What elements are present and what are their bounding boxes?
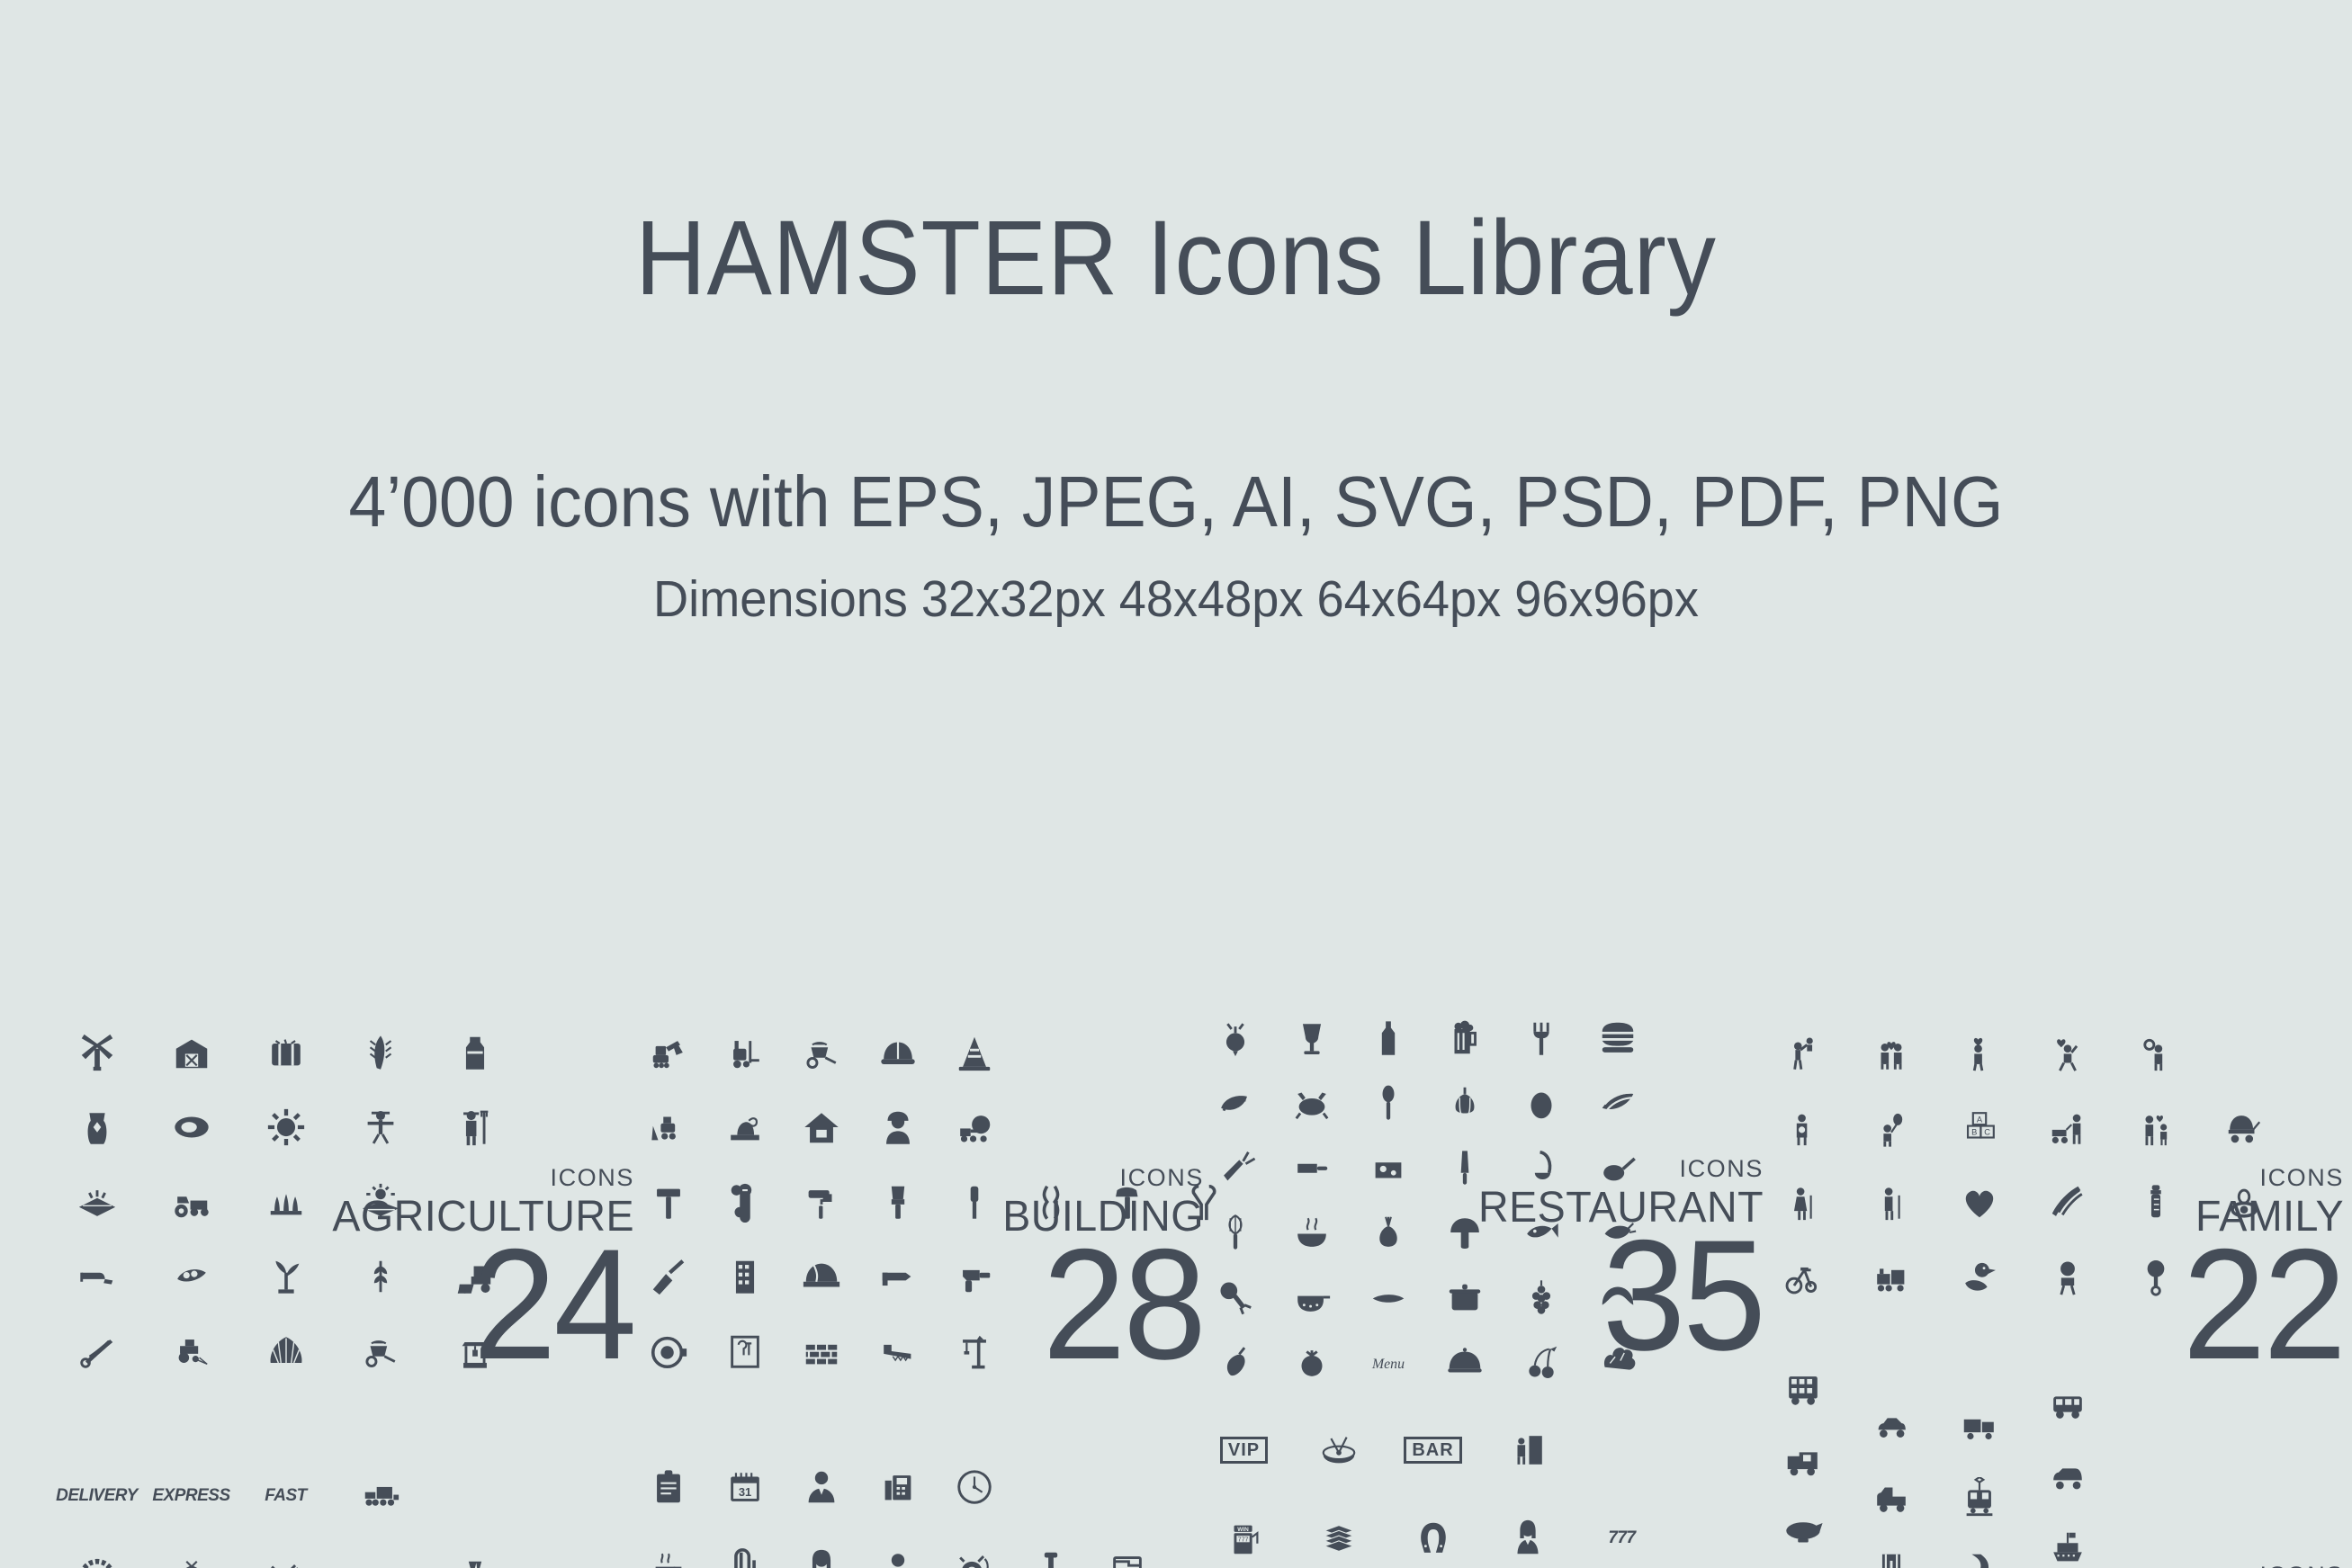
tape-measure-icon[interactable] xyxy=(630,1313,706,1388)
icon-field-casino: VIPBARWIN77777777722$Poker xyxy=(1197,1406,1669,1568)
icon-row xyxy=(1197,1006,1656,1071)
wheat-ear-icon[interactable] xyxy=(333,1015,427,1089)
businesswoman-icon[interactable] xyxy=(783,1528,859,1568)
paperclip-icon[interactable] xyxy=(706,1528,783,1568)
pruning-shears-icon[interactable] xyxy=(49,1313,144,1388)
traffic-cone-icon[interactable] xyxy=(936,1015,1012,1089)
svg-text:B: B xyxy=(1971,1127,1977,1136)
tomato-icon[interactable] xyxy=(1273,1330,1350,1394)
push-pin-icon[interactable] xyxy=(1012,1528,1089,1568)
group-count: 24 xyxy=(292,1226,634,1384)
fast-wordmark-icon-text: FAST xyxy=(265,1486,307,1506)
delivery-wordmark-icon-text: DELIVERY xyxy=(56,1486,138,1506)
fax-machine-icon[interactable] xyxy=(859,1447,936,1528)
tricycle-icon[interactable] xyxy=(1759,1239,1847,1313)
croupier-woman-icon[interactable] xyxy=(1480,1494,1575,1568)
blueprint-icon[interactable] xyxy=(706,1313,783,1388)
zeppelin-icon[interactable] xyxy=(1759,1496,1847,1568)
beet-icon[interactable] xyxy=(1197,1006,1273,1071)
icon-row: DELIVERYEXPRESSFAST xyxy=(49,1456,522,1537)
parent-and-child-icon[interactable] xyxy=(2112,1089,2200,1164)
cement-mixer-tool-icon[interactable] xyxy=(706,1089,783,1164)
bulldozer-icon[interactable] xyxy=(630,1089,706,1164)
icon-row: VIPBAR xyxy=(1197,1406,1669,1494)
slot-machine-win-icon[interactable]: WIN777 xyxy=(1197,1494,1291,1568)
plow-icon[interactable] xyxy=(49,1239,144,1313)
garlic-icon[interactable] xyxy=(1426,1071,1503,1135)
file-folder-icon[interactable]: B xyxy=(1089,1528,1165,1568)
icon-row xyxy=(630,1089,1242,1164)
construction-worker-icon[interactable] xyxy=(859,1089,936,1164)
icon-field-office: 31B24 xyxy=(630,1447,1165,1568)
parent-lifting-child-icon[interactable] xyxy=(1759,1015,1847,1089)
group-icons-word: ICONS xyxy=(274,1166,634,1190)
couple-in-love-icon[interactable] xyxy=(1847,1015,1935,1089)
concrete-truck-icon[interactable] xyxy=(936,1089,1012,1164)
box-truck-icon[interactable] xyxy=(1935,1390,2024,1462)
toy-train-icon[interactable] xyxy=(1847,1239,1935,1313)
chicken-leg-icon[interactable] xyxy=(1197,1265,1273,1330)
bottle-icon[interactable] xyxy=(1350,1006,1426,1071)
employee-icon[interactable] xyxy=(859,1528,936,1568)
24h-badge-icon[interactable]: 24h xyxy=(49,1537,144,1568)
car-icon[interactable] xyxy=(1847,1390,1935,1462)
icon-row xyxy=(630,1015,1242,1089)
icon-row: WIN777777 xyxy=(1197,1494,1669,1568)
egg-icon[interactable] xyxy=(1503,1071,1579,1135)
wrench-icon[interactable] xyxy=(706,1164,783,1239)
sunflower-icon[interactable] xyxy=(238,1089,333,1164)
colander-icon[interactable] xyxy=(1273,1265,1350,1330)
svg-text:C: C xyxy=(1984,1127,1990,1136)
group-count: 35 xyxy=(1422,1217,1764,1375)
icon-row xyxy=(1197,1071,1656,1135)
roulette-table-icon[interactable] xyxy=(1291,1406,1386,1494)
group-label-family: ICONSFAMILY22 xyxy=(1984,1166,2344,1384)
tractor-plow-icon[interactable] xyxy=(144,1313,238,1388)
hammer-icon[interactable] xyxy=(630,1164,706,1239)
hay-bale-icon[interactable] xyxy=(238,1015,333,1089)
bacon-icon[interactable] xyxy=(1579,1071,1656,1135)
scarecrow-icon[interactable] xyxy=(333,1089,427,1164)
minibus-icon[interactable] xyxy=(2024,1368,2112,1440)
elderly-man-icon[interactable] xyxy=(1847,1164,1935,1239)
double-decker-bus-icon[interactable] xyxy=(1759,1352,1847,1424)
suv-icon[interactable] xyxy=(2024,1440,2112,1512)
triple-seven-icon-text: 777 xyxy=(1608,1528,1635,1548)
svg-text:WIN: WIN xyxy=(1237,1527,1249,1533)
person-with-heart-icon[interactable] xyxy=(2112,1015,2200,1089)
page-title: HAMSTER Icons Library xyxy=(94,205,2258,311)
wheelbarrow-icon[interactable] xyxy=(783,1015,859,1089)
grain-sack-icon[interactable] xyxy=(49,1089,144,1164)
excavator-icon[interactable] xyxy=(630,1015,706,1089)
milk-can-icon[interactable] xyxy=(427,1015,522,1089)
wall-clock-icon[interactable] xyxy=(936,1447,1012,1528)
fork-icon[interactable] xyxy=(1503,1006,1579,1071)
parent-with-stroller-icon[interactable] xyxy=(2024,1089,2112,1164)
spoon-icon[interactable] xyxy=(1350,1071,1426,1135)
cleaver-icon[interactable] xyxy=(1273,1135,1350,1200)
group-icons-word: ICONS xyxy=(1404,1157,1764,1181)
eggplant-icon[interactable] xyxy=(1197,1330,1273,1394)
express-wordmark-icon-text: EXPRESS xyxy=(152,1486,229,1506)
roast-chicken-icon[interactable] xyxy=(1273,1071,1350,1135)
harvested-field-icon[interactable] xyxy=(49,1164,144,1239)
beer-mug-icon[interactable] xyxy=(1426,1006,1503,1071)
icon-groups-grid: ICONSAGRICULTURE24ICONSBUILDING28MenuICO… xyxy=(0,997,2352,1568)
vip-sign-icon-text: VIP xyxy=(1220,1437,1268,1464)
abc-blocks-icon[interactable]: ABC xyxy=(1935,1089,2024,1164)
icon-row: 24h xyxy=(49,1537,522,1568)
tower-building-icon[interactable] xyxy=(706,1239,783,1313)
businessman-icon[interactable] xyxy=(783,1447,859,1528)
fragile-glass-icon[interactable] xyxy=(427,1537,522,1568)
camper-van-icon[interactable] xyxy=(1759,1424,1847,1496)
hard-hat-icon[interactable] xyxy=(859,1015,936,1089)
bar-sign-icon-text: BAR xyxy=(1404,1437,1461,1464)
svg-text:Menu: Menu xyxy=(1371,1357,1405,1372)
fast-wordmark-icon[interactable]: FAST xyxy=(238,1456,333,1537)
vip-sign-icon[interactable]: VIP xyxy=(1197,1406,1291,1494)
person-with-balloon-heart-icon[interactable] xyxy=(2024,1015,2112,1089)
cash-stack-icon[interactable] xyxy=(1291,1494,1386,1568)
farmer-icon[interactable] xyxy=(427,1089,522,1164)
semi-truck-icon[interactable] xyxy=(333,1456,427,1537)
child-with-balloon-icon[interactable] xyxy=(1847,1089,1935,1164)
icon-field-delivery: DELIVERYEXPRESSFAST24hFREE xyxy=(49,1456,522,1568)
icon-field-transport xyxy=(1759,1352,2112,1568)
whisk-icon[interactable] xyxy=(1197,1200,1273,1265)
delivery-wordmark-icon[interactable]: DELIVERY xyxy=(49,1456,144,1537)
sailing-ship-icon[interactable] xyxy=(2024,1512,2112,1568)
trowel-icon[interactable] xyxy=(630,1239,706,1313)
desk-calendar-icon[interactable]: 31 xyxy=(706,1447,783,1528)
horseshoe-icon[interactable] xyxy=(1386,1494,1480,1568)
person-holding-heart-icon[interactable] xyxy=(1935,1015,2024,1089)
tractor-trailer-icon[interactable] xyxy=(144,1164,238,1239)
icon-row xyxy=(49,1015,522,1089)
soup-bowl-icon[interactable] xyxy=(1273,1200,1350,1265)
svg-text:31: 31 xyxy=(738,1485,750,1499)
icon-row: 31 xyxy=(630,1447,1165,1528)
rotary-phone-icon[interactable] xyxy=(936,1528,1012,1568)
svg-text:A: A xyxy=(1977,1115,1983,1124)
tram-icon[interactable] xyxy=(1935,1462,2024,1534)
svg-text:777: 777 xyxy=(1237,1537,1248,1544)
hero-section: HAMSTER Icons Library 4’000 icons with E… xyxy=(0,205,2352,625)
icon-row xyxy=(1759,1015,2288,1089)
barn-icon[interactable] xyxy=(144,1015,238,1089)
group-label-agriculture: ICONSAGRICULTURE24 xyxy=(274,1166,634,1384)
slot-door-icon[interactable] xyxy=(1480,1406,1575,1494)
banana-icon[interactable] xyxy=(1197,1071,1273,1135)
pickup-truck-icon[interactable] xyxy=(1847,1462,1935,1534)
open-box-icon[interactable] xyxy=(144,1537,238,1568)
group-label-transport: ICONSTRANSPORT22 xyxy=(1984,1564,2344,1568)
bar-sign-icon[interactable]: BAR xyxy=(1386,1406,1480,1494)
group-icons-word: ICONS xyxy=(844,1166,1204,1190)
icon-row: ABC xyxy=(1759,1089,2288,1164)
coffee-cup-icon[interactable] xyxy=(630,1528,706,1568)
express-wordmark-icon[interactable]: EXPRESS xyxy=(144,1456,238,1537)
windmill-icon[interactable] xyxy=(49,1015,144,1089)
meat-steak-icon[interactable] xyxy=(144,1089,238,1164)
highway-road-icon[interactable] xyxy=(1847,1534,1935,1568)
dimensions-line: Dimensions 32x32px 48x48px 64x64px 96x96… xyxy=(58,574,2293,625)
burger-icon[interactable] xyxy=(1579,1006,1656,1071)
parent-carrying-baby-icon[interactable] xyxy=(1759,1089,1847,1164)
house-icon[interactable] xyxy=(783,1089,859,1164)
icon-row: B xyxy=(630,1528,1165,1568)
triple-seven-icon[interactable]: 777 xyxy=(1575,1494,1669,1568)
rotary-phone-icon[interactable] xyxy=(238,1537,333,1568)
envelope-icon[interactable] xyxy=(333,1537,427,1568)
wine-glass-icon[interactable] xyxy=(1273,1006,1350,1071)
elderly-woman-icon[interactable] xyxy=(1759,1164,1847,1239)
carrot-icon[interactable] xyxy=(1197,1135,1273,1200)
group-label-restaurant: ICONSRESTAURANT35 xyxy=(1404,1157,1764,1375)
group-icons-word: ICONS xyxy=(1984,1564,2344,1568)
formats-line: 4’000 icons with EPS, JPEG, AI, SVG, PSD… xyxy=(70,466,2281,538)
baby-carriage-icon[interactable] xyxy=(2200,1089,2288,1164)
icon-row xyxy=(49,1089,522,1164)
icon-row xyxy=(1759,1352,2112,1424)
clipboard-icon[interactable] xyxy=(630,1447,706,1528)
forklift-icon[interactable] xyxy=(706,1015,783,1089)
group-count: 28 xyxy=(862,1226,1204,1384)
group-label-building: ICONSBUILDING28 xyxy=(844,1166,1204,1384)
group-icons-word: ICONS xyxy=(1984,1166,2344,1190)
pea-pod-icon[interactable] xyxy=(144,1239,238,1313)
